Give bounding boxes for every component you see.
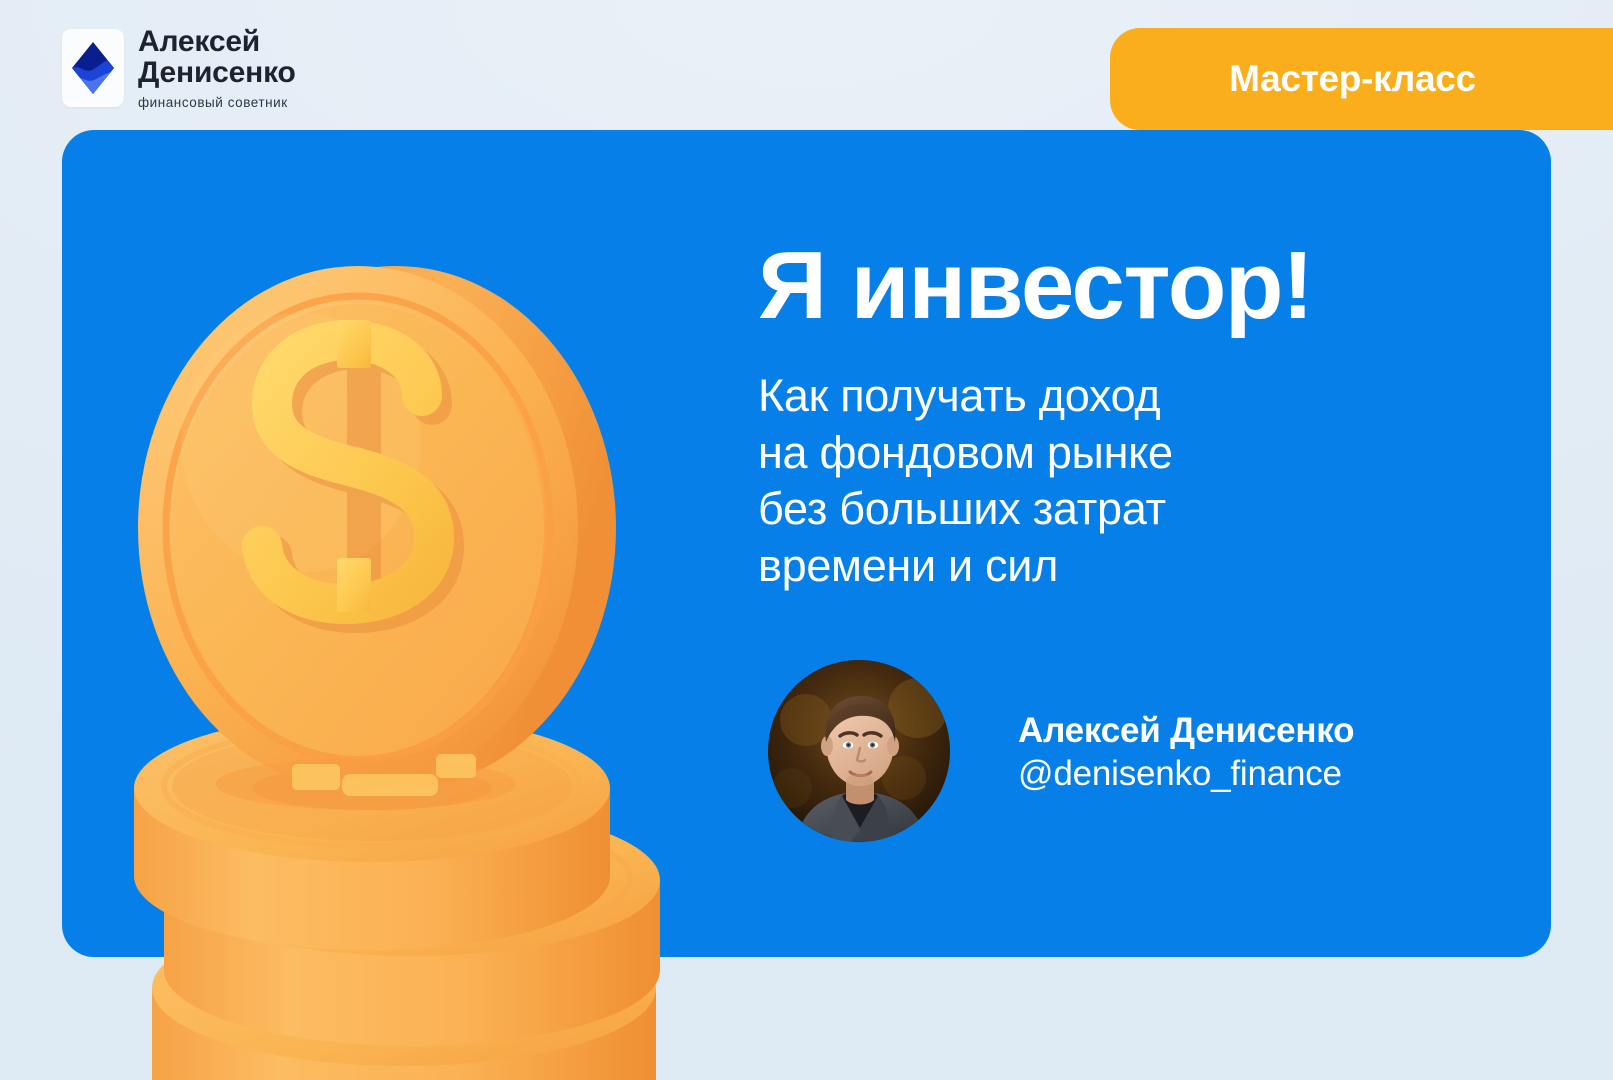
- brand-tagline: финансовый советник: [138, 95, 296, 110]
- subtitle-line-1: Как получать доход: [758, 368, 1478, 425]
- brand-name-line1: Алексей: [138, 26, 296, 57]
- speaker-info: Алексей Денисенко @denisenko_finance: [1018, 711, 1354, 796]
- masterclass-badge-label: Мастер-класс: [1229, 58, 1476, 100]
- subtitle-line-2: на фондовом рынке: [758, 425, 1478, 482]
- card-subtitle: Как получать доход на фондовом рынке без…: [758, 368, 1478, 595]
- speaker-block: Алексей Денисенко @denisenko_finance: [768, 660, 1354, 842]
- poster-canvas: Алексей Денисенко финансовый советник Ма…: [0, 0, 1613, 1080]
- subtitle-line-4: времени и сил: [758, 538, 1478, 595]
- brand-logo-text: Алексей Денисенко финансовый советник: [138, 26, 296, 110]
- subtitle-line-3: без больших затрат: [758, 481, 1478, 538]
- speaker-name: Алексей Денисенко: [1018, 711, 1354, 752]
- speaker-handle[interactable]: @denisenko_finance: [1018, 753, 1354, 795]
- diamond-logo-icon: [62, 29, 124, 107]
- page-title: Я инвестор!: [758, 238, 1478, 334]
- speaker-portrait-avatar: [768, 660, 950, 842]
- brand-name-line2: Денисенко: [138, 57, 296, 88]
- card-content: Я инвестор! Как получать доход на фондов…: [758, 238, 1478, 595]
- brand-logo[interactable]: Алексей Денисенко финансовый советник: [62, 26, 296, 110]
- masterclass-badge: Мастер-класс: [1110, 28, 1613, 130]
